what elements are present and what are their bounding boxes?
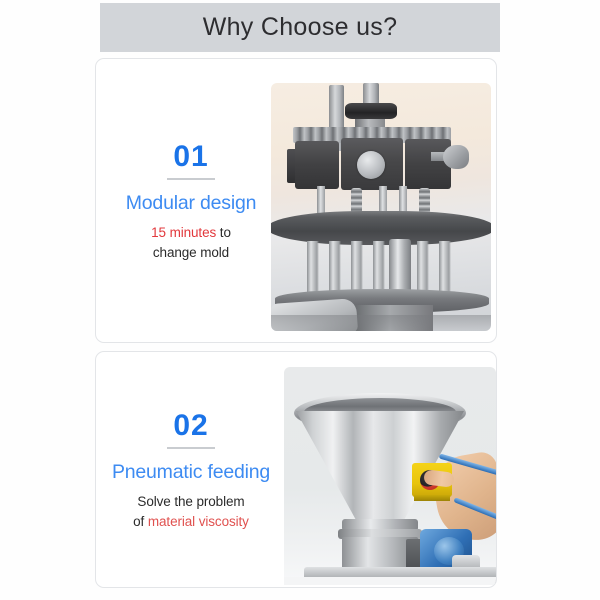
section-header-bar: Why Choose us? xyxy=(100,3,500,52)
feature-highlight-01: 15 minutes xyxy=(151,225,216,240)
machine-adjust-knob xyxy=(443,145,469,169)
rotary-tablet-press-turret-photo xyxy=(271,83,491,331)
feature-card-02[interactable]: 02 Pneumatic feeding Solve the problem o… xyxy=(95,351,497,588)
feature-highlight-02: material viscosity xyxy=(148,514,249,529)
feature-card-01-text: 01 Modular design 15 minutes to change m… xyxy=(96,59,286,342)
page-title: Why Choose us? xyxy=(203,13,398,42)
machine-brushed-disc xyxy=(357,151,385,179)
machine-die-block-left xyxy=(295,141,339,189)
feature-subtext-02-line1: Solve the problem xyxy=(137,494,244,509)
feature-subtext-01-line2: change mold xyxy=(153,245,229,260)
feature-number-01: 01 xyxy=(173,142,208,172)
machine-top-cap xyxy=(345,103,397,119)
machine-main-column xyxy=(389,239,411,295)
feature-card-01[interactable]: 01 Modular design 15 minutes to change m… xyxy=(95,58,497,343)
feature-number-02: 02 xyxy=(173,411,208,441)
photo-floor-band xyxy=(284,577,496,585)
stainless-steel-hopper-photo xyxy=(284,367,496,585)
machine-turret-ring xyxy=(271,211,491,245)
feature-subtext-02: Solve the problem of material viscosity xyxy=(133,492,249,533)
machine-punch-columns xyxy=(297,241,457,293)
feature-subtext-01: 15 minutes to change mold xyxy=(151,223,231,264)
feature-subtext-01-rest: to xyxy=(216,225,231,240)
feature-number-underline xyxy=(167,178,215,180)
feature-heading-01: Modular design xyxy=(126,192,257,214)
feature-card-02-text: 02 Pneumatic feeding Solve the problem o… xyxy=(96,352,286,587)
promo-page: Why Choose us? 01 Modular design 15 minu… xyxy=(0,0,600,600)
machine-die-block-right xyxy=(405,139,451,189)
control-box-base xyxy=(414,495,450,501)
feature-heading-02: Pneumatic feeding xyxy=(112,461,270,483)
photo-shadow-gradient xyxy=(271,315,491,331)
feature-number-underline xyxy=(167,447,215,449)
feature-subtext-02-prefix: of xyxy=(133,514,148,529)
